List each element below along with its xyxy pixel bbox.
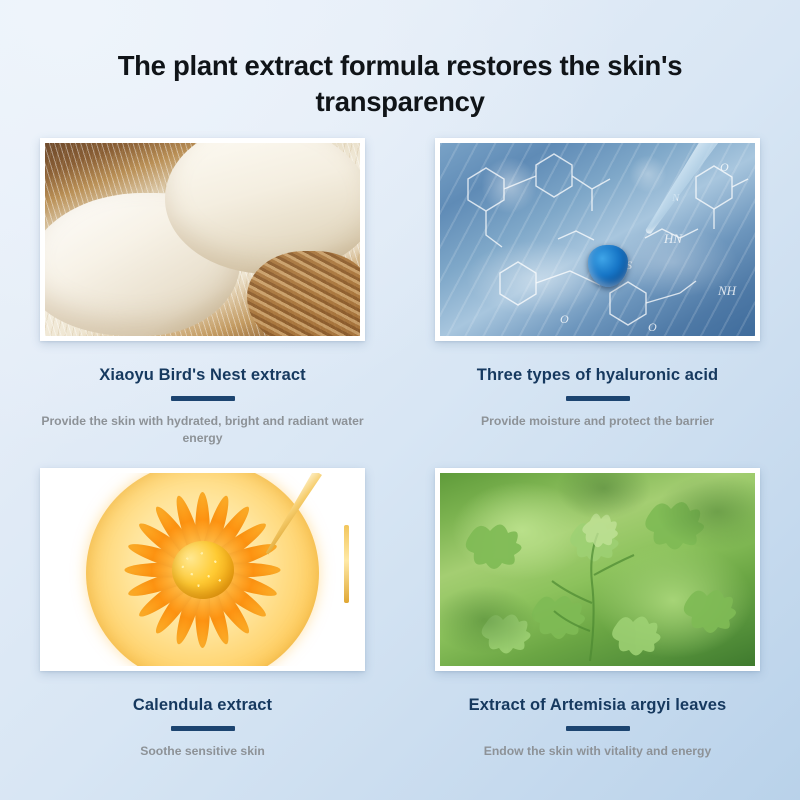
flower-center	[172, 541, 234, 599]
card-title: Three types of hyaluronic acid	[435, 366, 760, 385]
divider-rule	[171, 726, 235, 731]
card-caption: Xiaoyu Bird's Nest extract Provide the s…	[40, 366, 365, 446]
svg-text:O: O	[720, 160, 729, 174]
ingredient-card-calendula[interactable]: Calendula extract Soothe sensitive skin	[40, 468, 365, 778]
artemisia-argyi-leaves-photo	[440, 473, 755, 666]
card-title: Extract of Artemisia argyi leaves	[435, 696, 760, 715]
divider-rule	[566, 396, 630, 401]
divider-rule	[171, 396, 235, 401]
card-caption: Three types of hyaluronic acid Provide m…	[435, 366, 760, 430]
depth-of-field-blur	[440, 473, 755, 666]
card-description: Endow the skin with vitality and energy	[435, 743, 760, 760]
photo-frame	[40, 138, 365, 341]
card-description: Provide moisture and protect the barrier	[435, 413, 760, 430]
calendula-flower-photo	[45, 473, 360, 666]
ingredient-card-hyaluronic-acid[interactable]: HN NH S O O O N Three types of hyaluron	[435, 138, 760, 448]
photo-frame	[40, 468, 365, 671]
birds-nest-photo	[45, 143, 360, 336]
card-caption: Calendula extract Soothe sensitive skin	[40, 696, 365, 760]
hyaluronic-acid-lab-photo: HN NH S O O O N	[440, 143, 755, 336]
ingredient-card-grid: Xiaoyu Bird's Nest extract Provide the s…	[40, 138, 760, 778]
svg-text:O: O	[560, 312, 569, 326]
ingredient-infographic: The plant extract formula restores the s…	[0, 0, 800, 800]
svg-text:O: O	[648, 320, 657, 334]
card-title: Xiaoyu Bird's Nest extract	[40, 366, 365, 385]
page-title: The plant extract formula restores the s…	[60, 48, 740, 120]
card-caption: Extract of Artemisia argyi leaves Endow …	[435, 696, 760, 760]
photo-frame	[435, 468, 760, 671]
ingredient-card-artemisia[interactable]: Extract of Artemisia argyi leaves Endow …	[435, 468, 760, 778]
glass-stirring-rod	[344, 525, 349, 603]
ingredient-card-birds-nest[interactable]: Xiaoyu Bird's Nest extract Provide the s…	[40, 138, 365, 448]
photo-frame: HN NH S O O O N	[435, 138, 760, 341]
card-title: Calendula extract	[40, 696, 365, 715]
woven-basket	[247, 251, 360, 336]
divider-rule	[566, 726, 630, 731]
card-description: Soothe sensitive skin	[40, 743, 365, 760]
molecular-structure-overlay: HN NH S O O O N	[440, 143, 755, 336]
svg-text:NH: NH	[717, 283, 737, 298]
card-description: Provide the skin with hydrated, bright a…	[40, 413, 365, 446]
svg-text:HN: HN	[663, 231, 683, 246]
